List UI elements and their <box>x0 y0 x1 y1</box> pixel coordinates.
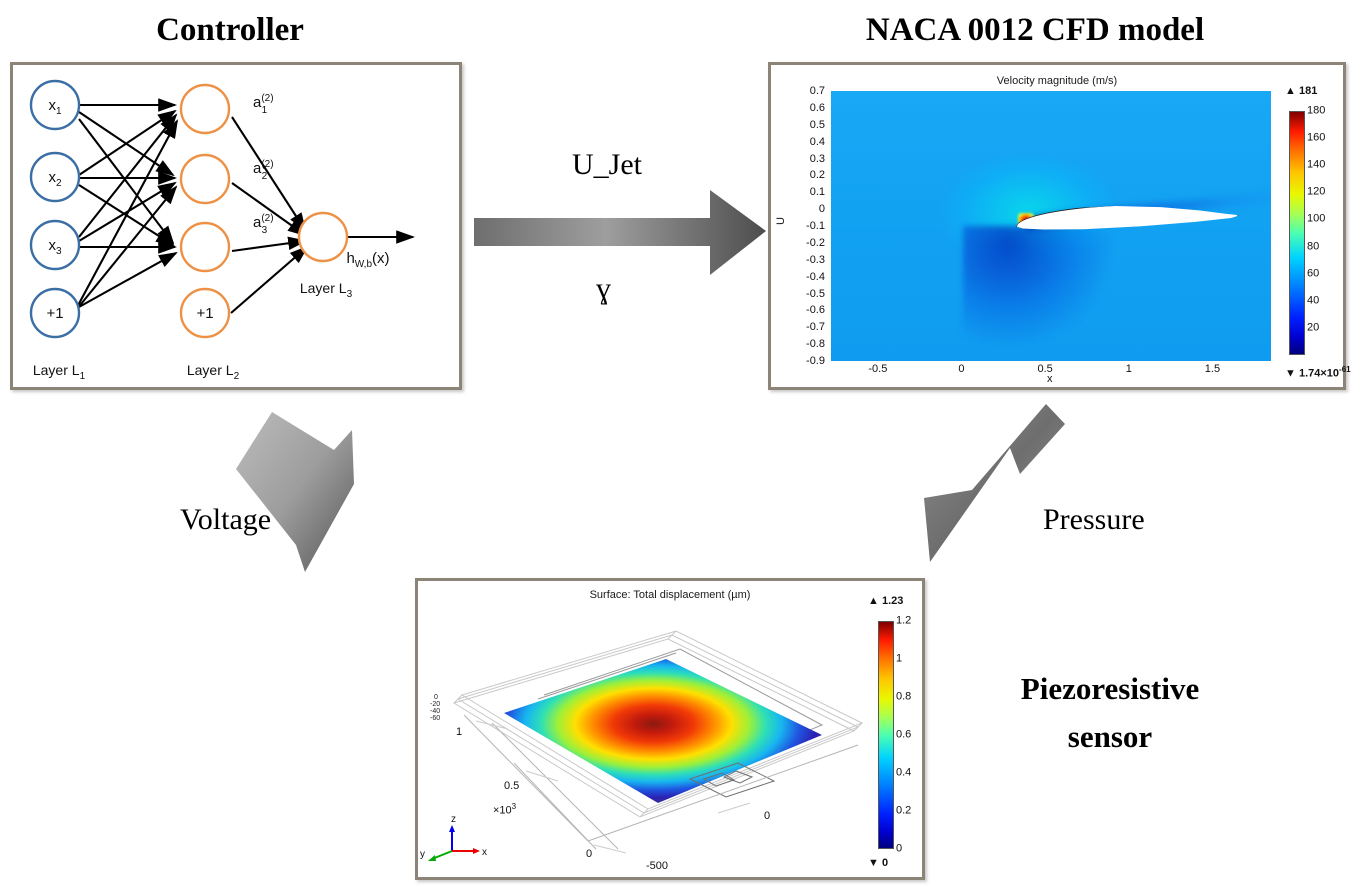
cfd-ytick-2: 0.5 <box>810 120 825 131</box>
svg-text:z: z <box>451 814 456 825</box>
sensor-colorbar-gradient <box>878 621 894 849</box>
sensor-colorbar-max: ▲ 1.23 <box>868 595 903 607</box>
sensor-tick-0-left: 0 <box>586 849 592 860</box>
sensor-colorbar-tick-4: 0.4 <box>896 768 911 779</box>
svg-text:-40: -40 <box>430 708 440 715</box>
sensor-3d-stage: 0 -20 -40 -60 z x y 1 0.5 ×103 0 -500 0 <box>418 603 873 875</box>
cfd-plot-title: Velocity magnitude (m/s) <box>771 75 1343 87</box>
cfd-plot-panel: Velocity magnitude (m/s) 0.70.60.50.40.3… <box>768 62 1346 390</box>
cfd-colorbar-tick-4: 100 <box>1307 214 1325 225</box>
arrow-controller-to-cfd <box>474 190 766 275</box>
arrow-sensor-to-controller <box>236 412 354 572</box>
cfd-colorbar: ▲ 181 18016014012010080604020 ▼ 1.74×10-… <box>1283 85 1345 385</box>
cfd-ytick-12: -0.5 <box>806 289 825 300</box>
nn-label-bias1: +1 <box>46 305 63 322</box>
cfd-ytick-14: -0.7 <box>806 322 825 333</box>
sensor-3d-svg: 0 -20 -40 -60 z x y <box>418 603 873 875</box>
cfd-colorbar-tick-5: 80 <box>1307 241 1319 252</box>
cfd-colorbar-tick-labels: 18016014012010080604020 <box>1307 111 1347 355</box>
arrow-label-gamma: ɣ <box>596 272 611 306</box>
sensor-title-line2: sensor <box>980 713 1240 761</box>
sensor-colorbar-tick-labels: 1.210.80.60.40.20 <box>896 621 930 849</box>
arrow-label-voltage: Voltage <box>180 503 271 537</box>
svg-text:0: 0 <box>434 694 438 701</box>
cfd-ytick-0: 0.7 <box>810 86 825 97</box>
sensor-z-axis-micro-ticks: 0 -20 -40 -60 <box>430 694 440 722</box>
sensor-plot-title: Surface: Total displacement (µm) <box>418 589 922 601</box>
cfd-ytick-8: -0.1 <box>806 221 825 232</box>
sensor-tick-minus500: -500 <box>646 861 668 872</box>
cfd-xtick-3: 1 <box>1126 364 1132 375</box>
cfd-ytick-7: 0 <box>819 204 825 215</box>
cfd-ytick-3: 0.4 <box>810 137 825 148</box>
piezoresistive-sensor-panel: Surface: Total displacement (µm) <box>415 578 925 880</box>
nn-layer-label-3: Layer L3 <box>300 280 353 300</box>
sensor-orientation-triad-icon: z x y <box>420 814 487 861</box>
triangle-down-icon: ▼ <box>1285 368 1296 380</box>
neural-network-diagram: x1 x2 x3 +1 +1 a(2)1 a(2)2 a(2)3 hW,b(x)… <box>13 65 459 387</box>
cfd-ytick-4: 0.3 <box>810 154 825 165</box>
sensor-colorbar-tick-5: 0.2 <box>896 806 911 817</box>
cfd-colorbar-tick-6: 60 <box>1307 268 1319 279</box>
cfd-colorbar-tick-2: 140 <box>1307 160 1325 171</box>
cfd-colorbar-gradient <box>1289 111 1305 355</box>
cfd-xtick-0: -0.5 <box>868 364 887 375</box>
sensor-colorbar-tick-2: 0.8 <box>896 692 911 703</box>
nn-label-output-function: hW,b(x) <box>346 250 389 270</box>
triangle-up-icon: ▲ <box>868 595 879 607</box>
controller-panel: x1 x2 x3 +1 +1 a(2)1 a(2)2 a(2)3 hW,b(x)… <box>10 62 462 390</box>
sensor-colorbar-min: ▼ 0 <box>868 857 888 869</box>
cfd-ytick-1: 0.6 <box>810 103 825 114</box>
nn-layer-label-1: Layer L1 <box>33 362 86 382</box>
sensor-scale-note: ×103 <box>493 803 516 817</box>
nn-activation-labels: a(2)1 a(2)2 a(2)3 <box>253 93 274 236</box>
cfd-ytick-10: -0.3 <box>806 255 825 266</box>
cfd-ytick-6: 0.1 <box>810 187 825 198</box>
sensor-colorbar-tick-3: 0.6 <box>896 730 911 741</box>
svg-text:-60: -60 <box>430 715 440 722</box>
controller-title: Controller <box>60 12 400 49</box>
cfd-colorbar-tick-3: 120 <box>1307 187 1325 198</box>
cfd-x-axis-label: x <box>1047 373 1053 385</box>
sensor-colorbar-tick-0: 1.2 <box>896 616 911 627</box>
cfd-xtick-1: 0 <box>958 364 964 375</box>
cfd-colorbar-min: ▼ 1.74×10-61 <box>1285 365 1351 380</box>
cfd-ytick-9: -0.2 <box>806 238 825 249</box>
piezoresistive-sensor-title: Piezoresistive sensor <box>980 665 1240 761</box>
nn-label-a1: a(2)1 <box>253 93 274 116</box>
nn-edges-layer1-layer2 <box>75 105 177 311</box>
svg-text:y: y <box>420 849 425 860</box>
nn-node-h2 <box>181 155 229 203</box>
sensor-title-line1: Piezoresistive <box>980 665 1240 713</box>
cfd-ytick-5: 0.2 <box>810 170 825 181</box>
nn-label-a3: a(2)3 <box>253 213 274 236</box>
cfd-xtick-4: 1.5 <box>1205 364 1220 375</box>
sensor-tick-0-right: 0 <box>764 811 770 822</box>
sensor-colorbar-tick-6: 0 <box>896 844 902 855</box>
arrow-cfd-to-sensor <box>924 404 1065 562</box>
svg-text:x: x <box>482 847 487 858</box>
nn-node-h1 <box>181 85 229 133</box>
cfd-model-title: NACA 0012 CFD model <box>790 12 1280 49</box>
cfd-ytick-11: -0.4 <box>806 272 825 283</box>
arrow-label-u-jet: U_Jet <box>572 148 642 182</box>
triangle-up-icon: ▲ <box>1285 85 1296 97</box>
cfd-velocity-field <box>831 91 1271 361</box>
nn-input-nodes <box>31 81 79 337</box>
nn-node-output <box>299 213 347 261</box>
sensor-colorbar: ▲ 1.23 1.210.80.60.40.20 ▼ 0 <box>870 595 926 875</box>
cfd-colorbar-tick-8: 20 <box>1307 322 1319 333</box>
cfd-y-axis-label: U <box>775 217 787 225</box>
cfd-colorbar-tick-0: 180 <box>1307 106 1325 117</box>
svg-text:-20: -20 <box>430 701 440 708</box>
cfd-ytick-15: -0.8 <box>806 339 825 350</box>
cfd-y-axis-ticks: 0.70.60.50.40.30.20.10-0.1-0.2-0.3-0.4-0… <box>781 91 829 361</box>
nn-label-a2: a(2)2 <box>253 159 274 182</box>
nn-hidden-nodes <box>181 85 229 337</box>
sensor-tick-1: 1 <box>456 727 462 738</box>
nn-layer-label-2: Layer L2 <box>187 362 240 382</box>
nn-node-h3 <box>181 223 229 271</box>
cfd-colorbar-tick-7: 40 <box>1307 295 1319 306</box>
cfd-lower-separation-lobe <box>963 226 1113 346</box>
sensor-colorbar-tick-1: 1 <box>896 654 902 665</box>
cfd-colorbar-max: ▲ 181 <box>1285 85 1317 97</box>
cfd-ytick-16: -0.9 <box>806 356 825 367</box>
triangle-down-icon: ▼ <box>868 857 879 869</box>
nn-label-bias2: +1 <box>196 305 213 322</box>
cfd-colorbar-tick-1: 160 <box>1307 133 1325 144</box>
cfd-ytick-13: -0.6 <box>806 305 825 316</box>
sensor-tick-0p5: 0.5 <box>504 781 519 792</box>
arrow-label-pressure: Pressure <box>1043 503 1145 537</box>
